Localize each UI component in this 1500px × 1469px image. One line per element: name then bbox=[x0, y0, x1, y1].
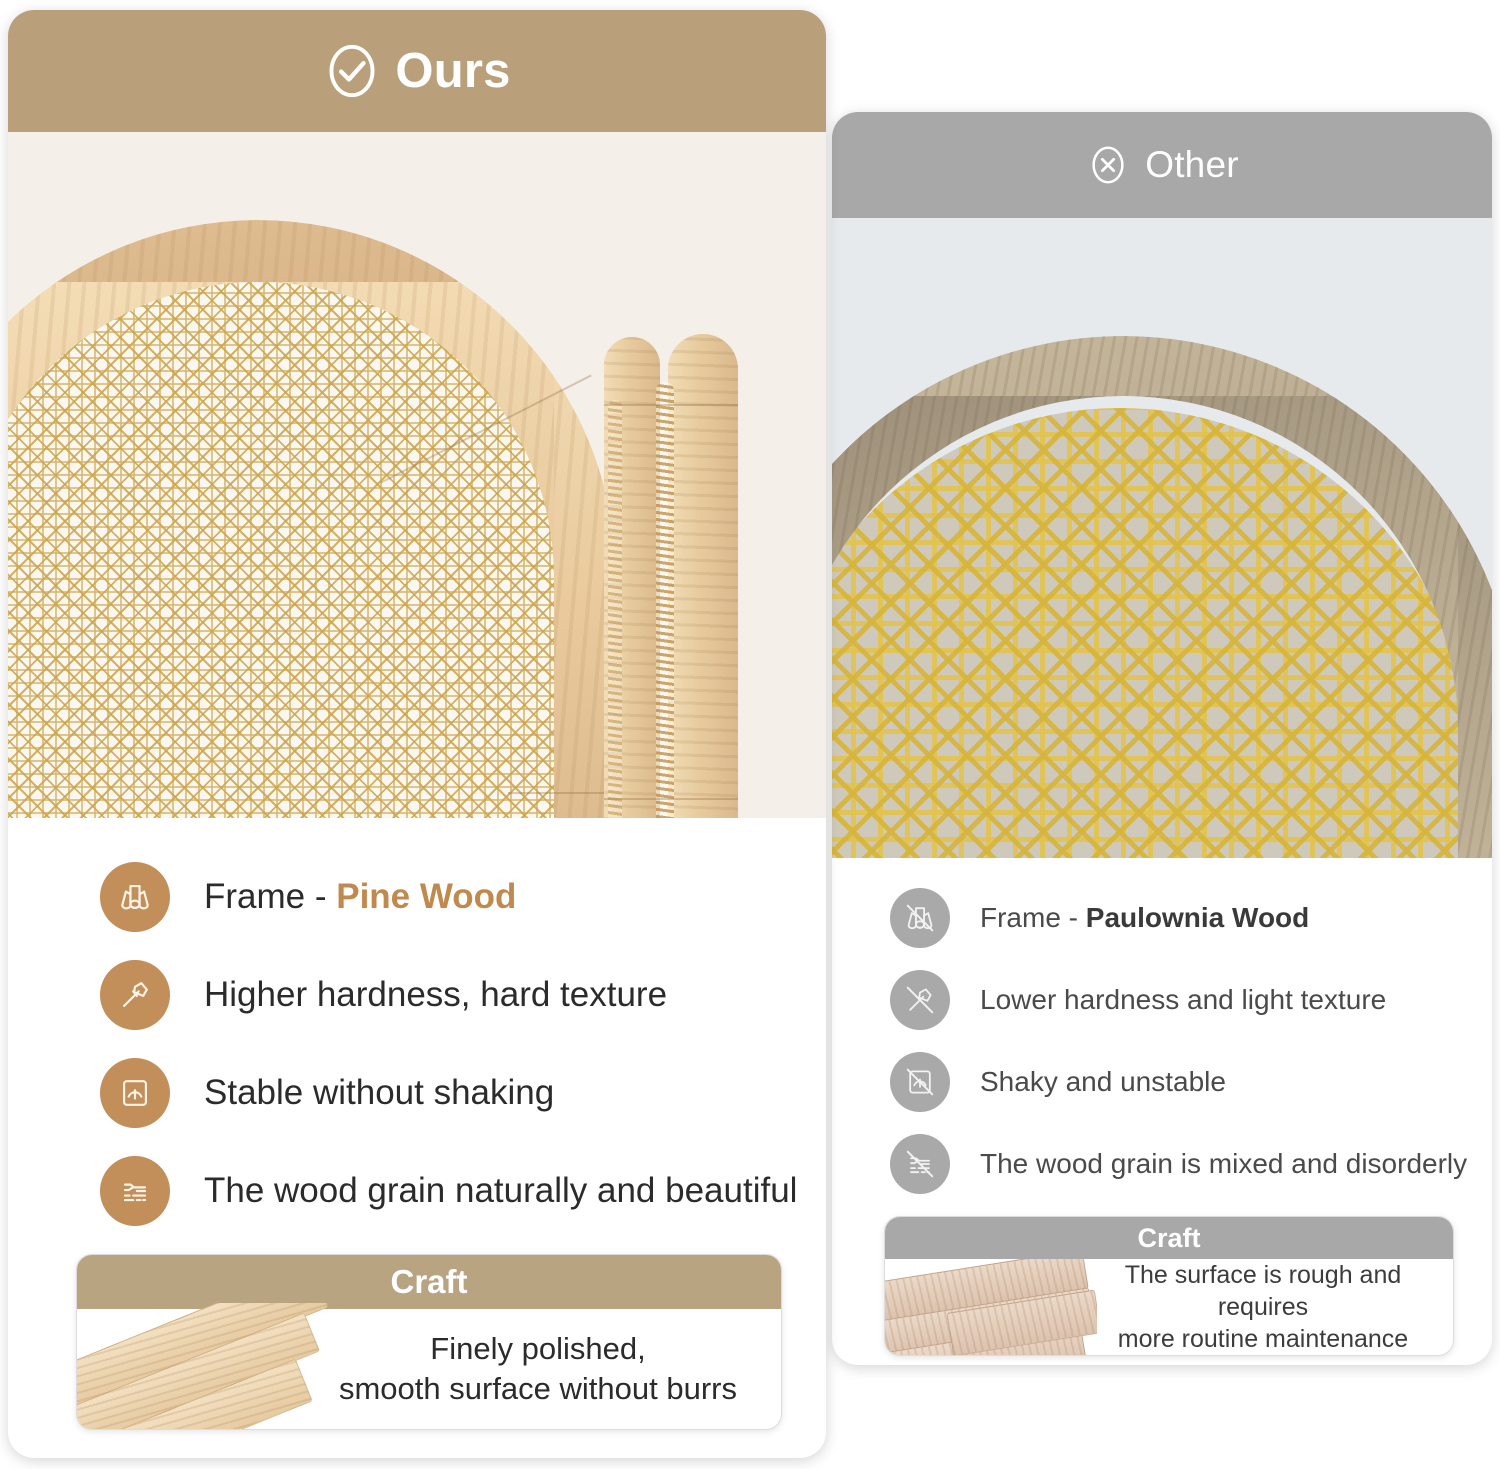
feature-label-frame: Frame - Paulownia Wood bbox=[980, 902, 1309, 934]
other-card: Other bbox=[832, 112, 1492, 1365]
x-circle-icon bbox=[1085, 142, 1131, 188]
ours-craft-body: Finely polished, smooth surface without … bbox=[77, 1309, 781, 1429]
frame-highlight: Paulownia Wood bbox=[1086, 902, 1309, 933]
frame-highlight: Pine Wood bbox=[336, 877, 516, 916]
feature-label-hardness: Lower hardness and light texture bbox=[980, 984, 1386, 1016]
feature-row-frame: Frame - Pine Wood bbox=[100, 862, 826, 932]
feature-row-grain: The wood grain is mixed and disorderly bbox=[890, 1134, 1492, 1194]
other-craft-body: The surface is rough and requires more r… bbox=[885, 1259, 1453, 1355]
ours-product-photo bbox=[8, 132, 826, 818]
feature-row-stability: Stable without shaking bbox=[100, 1058, 826, 1128]
timber-logs-disabled-icon bbox=[890, 888, 950, 948]
ours-edge-seam-upper bbox=[604, 404, 738, 406]
ours-side-panel-front bbox=[668, 334, 738, 818]
check-circle-icon bbox=[323, 42, 381, 100]
ours-pine-arch-frame bbox=[8, 220, 616, 818]
other-product-photo bbox=[832, 218, 1492, 858]
other-paulownia-arch-frame bbox=[832, 336, 1492, 858]
gauge-stability-icon bbox=[100, 1058, 170, 1128]
ours-header-label: Ours bbox=[395, 43, 510, 99]
ours-front-cane-edge bbox=[656, 382, 674, 818]
ours-edge-seam-lower bbox=[604, 798, 738, 800]
axe-icon bbox=[100, 960, 170, 1030]
ours-card: Ours bbox=[8, 10, 826, 1458]
timber-logs-icon bbox=[100, 862, 170, 932]
ours-rear-cane-edge bbox=[608, 400, 622, 818]
other-header-label: Other bbox=[1145, 144, 1239, 186]
feature-label-stability: Stable without shaking bbox=[204, 1073, 554, 1113]
other-craft-box: Craft The surface is rough and requires … bbox=[884, 1216, 1454, 1356]
comparison-infographic: Ours bbox=[0, 0, 1500, 1469]
ours-feature-list: Frame - Pine Wood Higher hardness, hard … bbox=[8, 818, 826, 1226]
other-feature-list: Frame - Paulownia Wood Lower hardness an… bbox=[832, 858, 1492, 1194]
paulownia-planks-photo bbox=[885, 1259, 1097, 1356]
feature-label-hardness: Higher hardness, hard texture bbox=[204, 975, 667, 1015]
feature-row-hardness: Lower hardness and light texture bbox=[890, 970, 1492, 1030]
ours-craft-line2: smooth surface without burrs bbox=[307, 1369, 769, 1409]
pine-planks-photo bbox=[77, 1303, 345, 1430]
axe-disabled-icon bbox=[890, 970, 950, 1030]
feature-label-grain: The wood grain is mixed and disorderly bbox=[980, 1148, 1467, 1180]
feature-label-grain: The wood grain naturally and beautiful bbox=[204, 1171, 797, 1211]
frame-prefix: Frame - bbox=[980, 902, 1086, 933]
ours-craft-box: Craft Finely polished, smooth surface wi… bbox=[76, 1254, 782, 1430]
wood-grain-disabled-icon bbox=[890, 1134, 950, 1194]
other-header: Other bbox=[832, 112, 1492, 218]
wood-grain-icon bbox=[100, 1156, 170, 1226]
ours-header: Ours bbox=[8, 10, 826, 132]
feature-row-frame: Frame - Paulownia Wood bbox=[890, 888, 1492, 948]
other-craft-title: Craft bbox=[885, 1217, 1453, 1259]
other-craft-line2: more routine maintenance bbox=[1081, 1323, 1445, 1355]
feature-row-grain: The wood grain naturally and beautiful bbox=[100, 1156, 826, 1226]
feature-row-hardness: Higher hardness, hard texture bbox=[100, 960, 826, 1030]
ours-craft-line1: Finely polished, bbox=[307, 1329, 769, 1369]
ours-craft-title: Craft bbox=[77, 1255, 781, 1309]
other-craft-line1: The surface is rough and requires bbox=[1081, 1259, 1445, 1323]
frame-prefix: Frame - bbox=[204, 877, 336, 916]
gauge-stability-disabled-icon bbox=[890, 1052, 950, 1112]
feature-row-stability: Shaky and unstable bbox=[890, 1052, 1492, 1112]
feature-label-stability: Shaky and unstable bbox=[980, 1066, 1226, 1098]
feature-label-frame: Frame - Pine Wood bbox=[204, 877, 516, 917]
